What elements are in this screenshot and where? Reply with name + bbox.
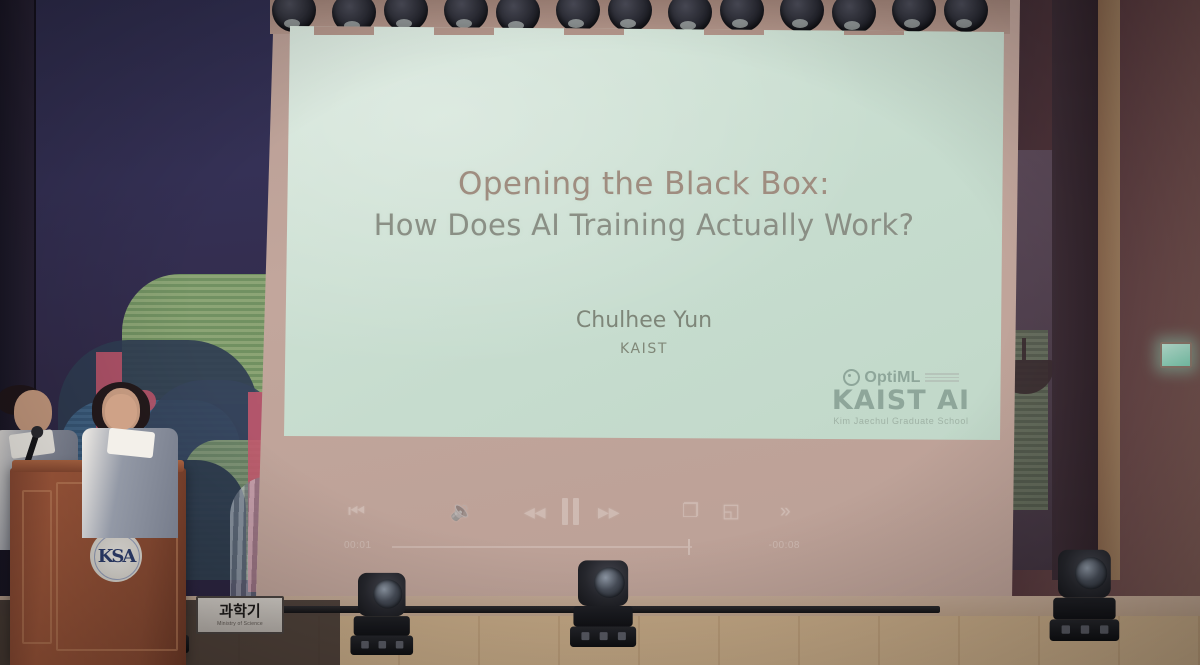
light-yoke	[354, 616, 410, 635]
podium-emblem-text: KSA	[98, 546, 135, 567]
presenter-left	[0, 390, 38, 434]
ceiling-light	[832, 0, 876, 34]
progress-track[interactable]	[392, 546, 692, 548]
graduate-school-label: Kim Jaechul Graduate School	[832, 416, 970, 426]
exit-sign	[1160, 342, 1192, 368]
light-head	[1058, 550, 1111, 598]
airplay-icon[interactable]: ◱	[722, 502, 740, 522]
picture-in-picture-icon[interactable]: ❐	[682, 502, 699, 522]
volume-icon[interactable]: 🔉	[450, 502, 474, 522]
slide-subtitle: How Does AI Training Actually Work?	[284, 208, 1004, 242]
light-head	[578, 560, 628, 606]
ceiling-light	[556, 0, 600, 32]
projection-screen: Opening the Black Box: How Does AI Train…	[284, 26, 1004, 440]
stage-photograph: Opening the Black Box: How Does AI Train…	[0, 0, 1200, 665]
ceiling-light	[780, 0, 824, 32]
player-time-row: 00:01 -00:08	[330, 538, 810, 558]
ceiling-light	[444, 0, 488, 32]
sign-english-text: Ministry of Science	[217, 621, 263, 627]
light-lens	[1075, 557, 1107, 589]
slide-author: Chulhee Yun	[284, 308, 1004, 333]
presenter-right	[86, 388, 124, 432]
remaining-time: -00:08	[769, 540, 800, 551]
screen-edge-notch	[314, 26, 374, 35]
right-wall-pillar	[1052, 0, 1098, 580]
hanbok-collar	[107, 428, 155, 459]
light-base	[570, 626, 636, 647]
ceiling-light	[668, 0, 712, 34]
light-head	[358, 573, 406, 616]
face	[105, 394, 137, 430]
moving-head-stage-light	[358, 573, 413, 655]
ceiling-light	[720, 0, 764, 32]
fast-forward-icon[interactable]: ▶▶	[598, 502, 620, 522]
light-yoke	[1053, 598, 1115, 620]
stage-signage: 과학기 Ministry of Science	[196, 596, 284, 634]
skip-back-icon[interactable]: ⏮	[348, 502, 365, 522]
moving-head-stage-light	[1058, 550, 1119, 641]
kaist-ai-logo: KAIST AI	[832, 387, 970, 415]
player-control-row: ⏮ 🔉 ◀◀ ▶▶ ❐ ◱ »	[330, 498, 810, 528]
light-lens	[594, 567, 625, 598]
light-base	[1050, 619, 1120, 641]
optiml-decor-lines	[925, 371, 959, 384]
rewind-icon[interactable]: ◀◀	[524, 502, 546, 522]
light-lens	[373, 579, 402, 608]
pause-icon[interactable]	[561, 498, 580, 525]
elapsed-time: 00:01	[344, 540, 372, 551]
podium-panel-left	[22, 490, 52, 644]
ceiling-light	[944, 0, 988, 32]
gear-icon	[843, 369, 860, 386]
video-player-overlay: ⏮ 🔉 ◀◀ ▶▶ ❐ ◱ » 00:01 -00:08	[330, 494, 810, 568]
more-chevron-icon[interactable]: »	[780, 502, 791, 522]
right-wall-wood-trim	[1098, 0, 1120, 580]
moving-head-stage-light	[578, 560, 636, 647]
slide-logo-block: OptiML KAIST AI Kim Jaechul Graduate Sch…	[832, 369, 970, 426]
slide-title: Opening the Black Box:	[284, 166, 1004, 202]
optiml-logo: OptiML	[832, 369, 970, 387]
light-yoke	[573, 606, 632, 627]
ceiling-light	[608, 0, 652, 32]
light-base	[350, 636, 413, 655]
sign-korean-text: 과학기	[219, 604, 260, 619]
ceiling-light	[892, 0, 936, 32]
optiml-label: OptiML	[864, 369, 920, 387]
slide-affiliation: KAIST	[284, 341, 1004, 357]
progress-knob[interactable]	[688, 539, 690, 555]
